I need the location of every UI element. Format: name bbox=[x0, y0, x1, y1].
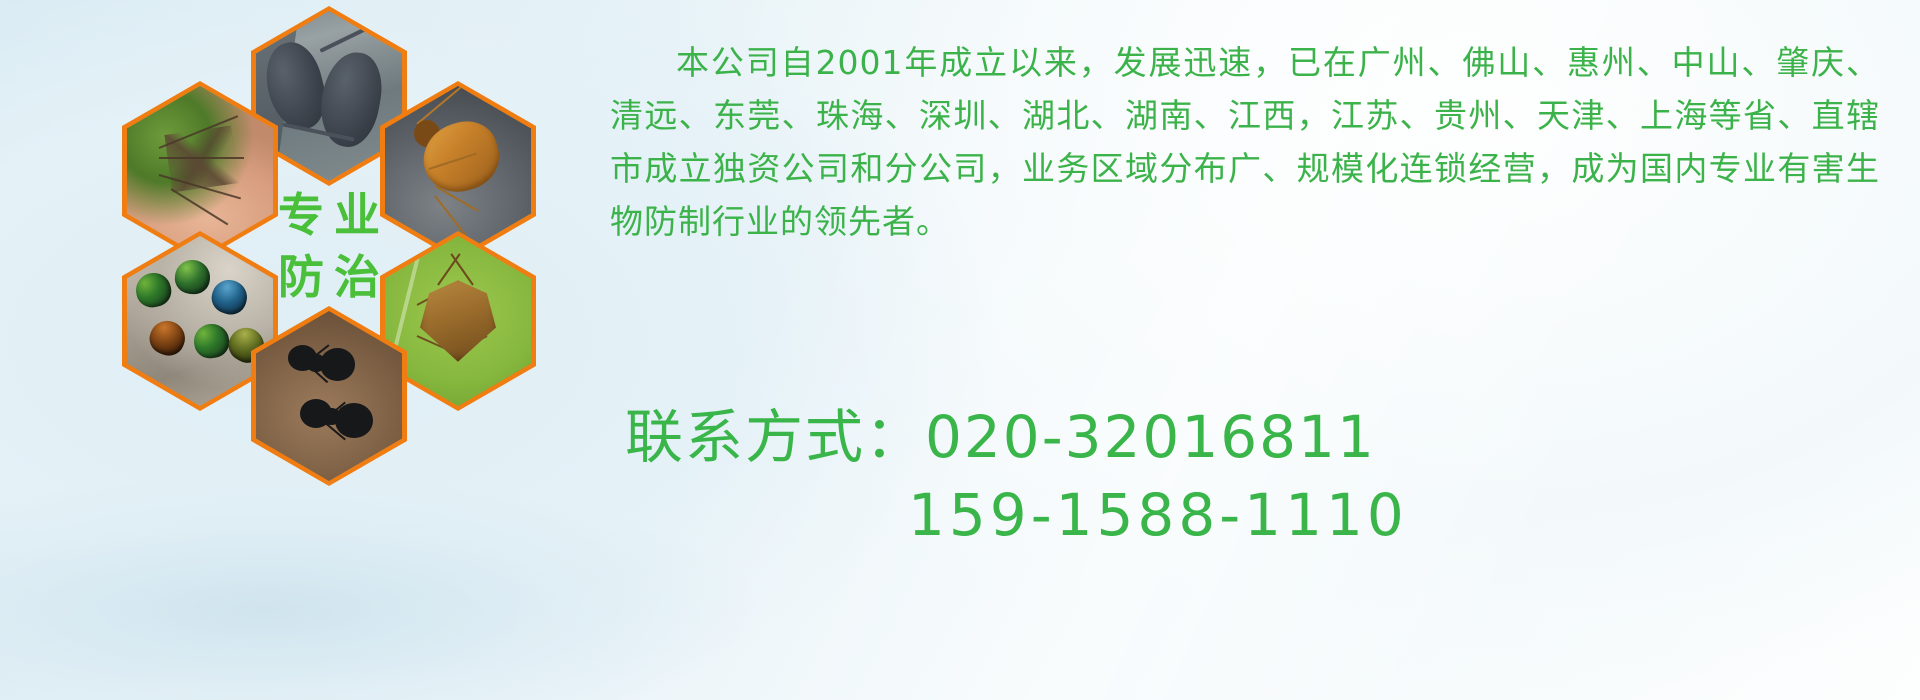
fly-4 bbox=[145, 316, 190, 361]
rat-tail-2 bbox=[320, 21, 379, 53]
fly-2 bbox=[173, 258, 211, 295]
stinkbug-antenna-1 bbox=[437, 253, 460, 285]
contact-line-secondary[interactable]: 159-1588-1110 bbox=[625, 476, 1725, 554]
promo-banner: 专业 防治 本公司自2001年成立以来，发展迅速，已在广州、佛山、惠州、中山、肇… bbox=[0, 0, 1920, 700]
fly-3 bbox=[207, 276, 251, 319]
mosquito-leg-4 bbox=[170, 188, 228, 225]
stinkbug-body bbox=[420, 280, 496, 362]
description-paragraph: 本公司自2001年成立以来，发展迅速，已在广州、佛山、惠州、中山、肇庆、清远、东… bbox=[610, 36, 1880, 248]
honeycomb-collage: 专业 防治 bbox=[95, 0, 595, 560]
slogan-line-1: 专业 bbox=[268, 192, 390, 238]
ant-abdomen-2 bbox=[335, 403, 373, 439]
stinkbug-antenna-2 bbox=[450, 253, 473, 285]
fly-1 bbox=[133, 270, 174, 311]
slogan-line-2: 防治 bbox=[268, 254, 390, 300]
rat-body-2 bbox=[314, 47, 388, 151]
fly-5 bbox=[192, 322, 231, 361]
company-description: 本公司自2001年成立以来，发展迅速，已在广州、佛山、惠州、中山、肇庆、清远、东… bbox=[610, 36, 1880, 248]
contact-line-primary[interactable]: 联系方式：020-32016811 bbox=[625, 398, 1725, 476]
slogan-overlay: 专业 防治 bbox=[251, 150, 407, 342]
ant-abdomen-1 bbox=[320, 348, 355, 380]
mosquito-leg-1 bbox=[159, 157, 244, 159]
contact-block: 联系方式：020-32016811 159-1588-1110 bbox=[625, 398, 1725, 554]
